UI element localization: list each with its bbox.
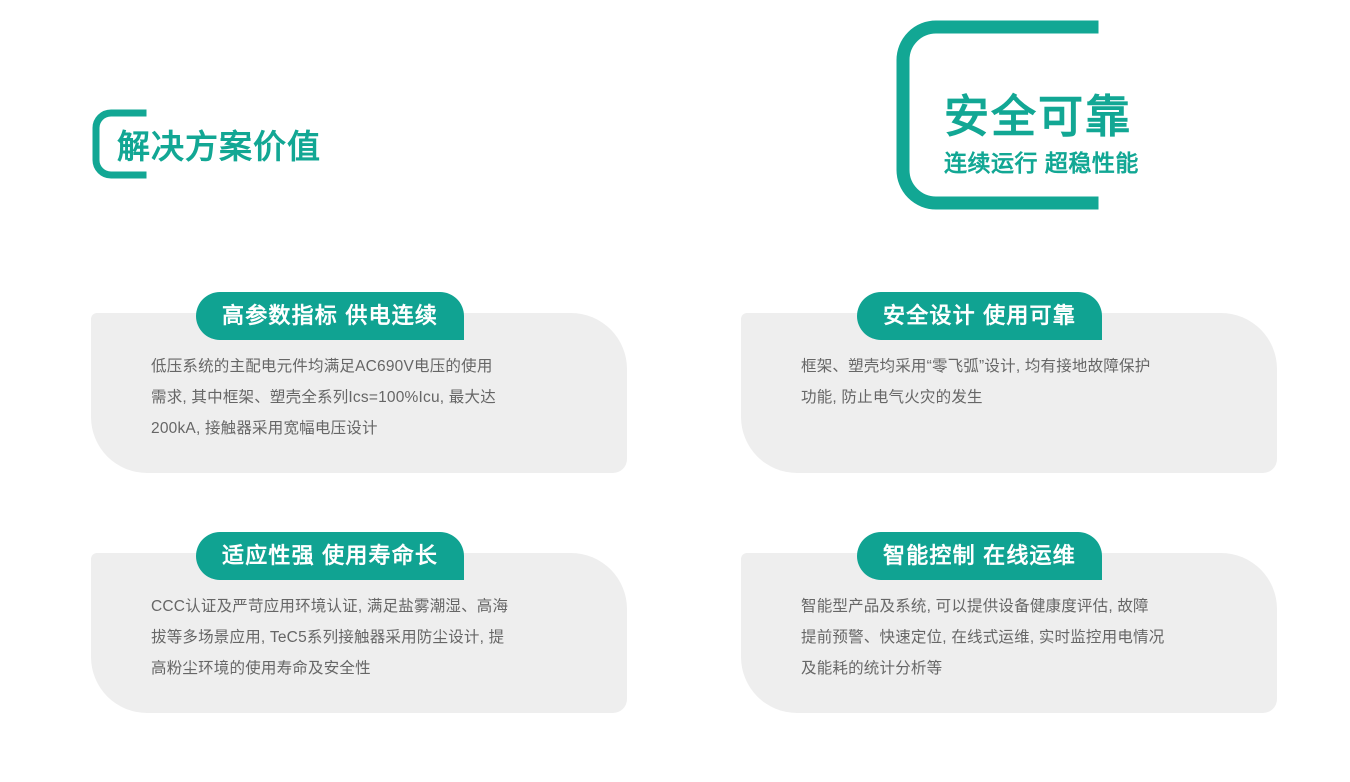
body-line: 拔等多场景应用, TeC5系列接触器采用防尘设计, 提 — [151, 622, 571, 653]
body-line: 框架、塑壳均采用“零飞弧”设计, 均有接地故障保护 — [801, 351, 1221, 382]
slide-canvas: 解决方案价值 安全可靠 连续运行 超稳性能 低压系统的主配电元件均满足AC690… — [0, 0, 1350, 782]
feature-card-body: 框架、塑壳均采用“零飞弧”设计, 均有接地故障保护 功能, 防止电气火灾的发生 — [801, 351, 1221, 413]
feature-card-tab[interactable]: 适应性强 使用寿命长 — [196, 532, 464, 580]
section-heading-right: 安全可靠 连续运行 超稳性能 — [896, 20, 1186, 210]
section-heading-left: 解决方案价值 — [91, 108, 511, 194]
page-title: 解决方案价值 — [117, 124, 321, 170]
body-line: 高粉尘环境的使用寿命及安全性 — [151, 653, 571, 684]
body-line: 智能型产品及系统, 可以提供设备健康度评估, 故障 — [801, 591, 1221, 622]
body-line: 及能耗的统计分析等 — [801, 653, 1221, 684]
feature-card-body: 智能型产品及系统, 可以提供设备健康度评估, 故障 提前预警、快速定位, 在线式… — [801, 591, 1221, 684]
feature-card-tab-label: 智能控制 在线运维 — [883, 544, 1076, 568]
body-line: 低压系统的主配电元件均满足AC690V电压的使用 — [151, 351, 571, 382]
body-line: CCC认证及严苛应用环境认证, 满足盐雾潮湿、高海 — [151, 591, 571, 622]
hero-subtitle: 连续运行 超稳性能 — [944, 148, 1139, 178]
feature-card-tab[interactable]: 智能控制 在线运维 — [857, 532, 1102, 580]
feature-card-tab[interactable]: 高参数指标 供电连续 — [196, 292, 464, 340]
feature-card-tab-label: 安全设计 使用可靠 — [883, 304, 1076, 328]
feature-card-body: 低压系统的主配电元件均满足AC690V电压的使用 需求, 其中框架、塑壳全系列I… — [151, 351, 571, 444]
body-line: 功能, 防止电气火灾的发生 — [801, 382, 1221, 413]
feature-card-tab[interactable]: 安全设计 使用可靠 — [857, 292, 1102, 340]
body-line: 200kA, 接触器采用宽幅电压设计 — [151, 413, 571, 444]
feature-card-body: CCC认证及严苛应用环境认证, 满足盐雾潮湿、高海 拔等多场景应用, TeC5系… — [151, 591, 571, 684]
body-line: 提前预警、快速定位, 在线式运维, 实时监控用电情况 — [801, 622, 1221, 653]
feature-card-tab-label: 高参数指标 供电连续 — [222, 304, 438, 328]
body-line: 需求, 其中框架、塑壳全系列Ics=100%Icu, 最大达 — [151, 382, 571, 413]
feature-card-tab-label: 适应性强 使用寿命长 — [222, 544, 438, 568]
hero-title: 安全可靠 — [944, 90, 1132, 144]
